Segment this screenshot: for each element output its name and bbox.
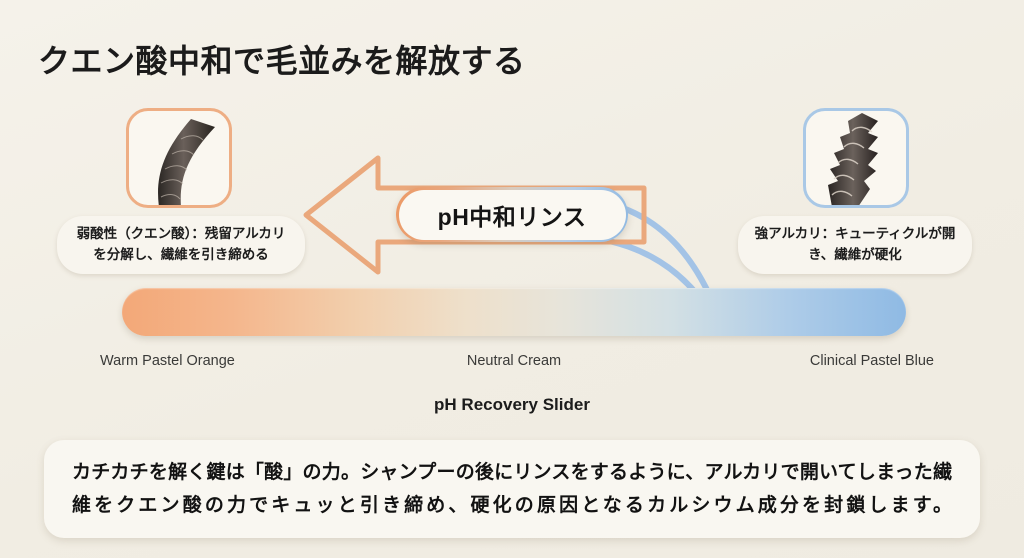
- footer-note-text: カチカチを解く鍵は「酸」の力。シャンプーの後にリンスをするように、アルカリで開い…: [72, 456, 952, 523]
- ph-recovery-slider-bar[interactable]: [122, 288, 906, 336]
- slider-label-middle: Neutral Cream: [467, 353, 561, 369]
- page-title: クエン酸中和で毛並みを解放する: [38, 36, 526, 82]
- ph-rinse-pill-inner: pH中和リンス: [399, 190, 626, 240]
- left-hair-thumbnail: [126, 108, 232, 208]
- footer-note-box: カチカチを解く鍵は「酸」の力。シャンプーの後にリンスをするように、アルカリで開い…: [44, 440, 980, 538]
- smooth-hair-strand-icon: [129, 111, 229, 205]
- slider-caption: pH Recovery Slider: [0, 395, 1024, 415]
- left-state-caption: 弱酸性（クエン酸）：残留アルカリを分解し、繊維を引き締める: [57, 216, 305, 274]
- slider-label-start: Warm Pastel Orange: [100, 353, 235, 369]
- slider-scale-labels: Warm Pastel Orange Neutral Cream Clinica…: [86, 353, 942, 375]
- slide-canvas: クエン酸中和で毛並みを解放する: [0, 0, 1024, 558]
- ph-rinse-label: pH中和リンス: [438, 198, 587, 232]
- ph-rinse-pill: pH中和リンス: [396, 187, 628, 242]
- slider-label-end: Clinical Pastel Blue: [810, 353, 934, 369]
- damaged-cuticle-hair-strand-icon: [806, 111, 906, 205]
